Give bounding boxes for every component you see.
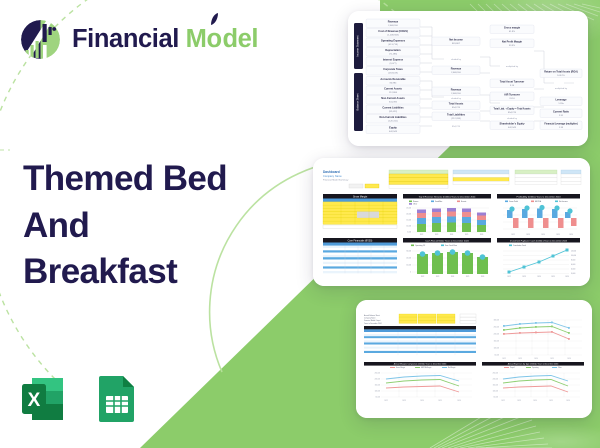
svg-text:Total Liab. + Equity = Total A: Total Liab. + Equity = Total Assets bbox=[494, 108, 532, 111]
svg-text:Gross margin: Gross margin bbox=[504, 27, 521, 30]
svg-text:150,000: 150,000 bbox=[493, 385, 499, 387]
financial-model-circle-chart-logo-icon bbox=[18, 17, 63, 62]
brand-name-part2-pre: M bbox=[186, 25, 207, 53]
svg-text:Income Statement: Income Statement bbox=[356, 35, 360, 56]
svg-text:10,000: 10,000 bbox=[406, 265, 411, 267]
svg-text:Interest Expense: Interest Expense bbox=[383, 59, 404, 62]
svg-text:Profitability (€'000) | Years: Profitability (€'000) | Years to Decembe… bbox=[517, 195, 562, 198]
svg-text:150,000: 150,000 bbox=[375, 385, 381, 387]
svg-text:40,000: 40,000 bbox=[571, 269, 575, 271]
svg-text:2022: 2022 bbox=[507, 276, 511, 278]
brand-wordmark: Financial Mo del bbox=[72, 27, 258, 53]
svg-text:2023: 2023 bbox=[436, 276, 440, 278]
svg-text:divided by: divided by bbox=[507, 118, 518, 120]
svg-text:100,000: 100,000 bbox=[375, 391, 381, 393]
svg-text:20,000: 20,000 bbox=[406, 214, 411, 216]
svg-text:50,000: 50,000 bbox=[493, 397, 498, 399]
svg-text:2026: 2026 bbox=[565, 276, 569, 278]
svg-text:Food/Bev: Food/Bev bbox=[435, 201, 442, 203]
svg-text:Gross Profit: Gross Profit bbox=[509, 200, 518, 203]
svg-text:100,000: 100,000 bbox=[494, 348, 500, 350]
svg-text:Current Liabilities: Current Liabilities bbox=[382, 107, 404, 110]
screenshot-card-financial-reports[interactable]: Annual Balance Sheet Company Name Financ… bbox=[356, 300, 592, 418]
svg-text:2024: 2024 bbox=[534, 358, 538, 360]
svg-text:X: X bbox=[28, 390, 41, 411]
svg-text:300,000: 300,000 bbox=[494, 320, 500, 322]
svg-text:Accounts Receivable: Accounts Receivable bbox=[380, 78, 406, 81]
svg-text:(263,619): (263,619) bbox=[388, 73, 398, 75]
svg-text:Current Ratio: Current Ratio bbox=[553, 111, 569, 114]
svg-text:Net Income: Net Income bbox=[449, 39, 463, 42]
brand-name-part1: Financial bbox=[72, 25, 179, 53]
svg-text:Corporate Taxes: Corporate Taxes bbox=[383, 68, 403, 71]
svg-text:(71,286): (71,286) bbox=[389, 54, 397, 56]
svg-text:2,648,510: 2,648,510 bbox=[388, 25, 399, 27]
svg-text:2024: 2024 bbox=[537, 276, 541, 278]
svg-text:A/R Turnover: A/R Turnover bbox=[504, 94, 520, 97]
svg-text:100,000: 100,000 bbox=[571, 255, 576, 257]
svg-text:100,000: 100,000 bbox=[493, 391, 499, 393]
svg-text:2025: 2025 bbox=[465, 234, 469, 236]
svg-text:2026: 2026 bbox=[567, 358, 571, 360]
svg-text:2025: 2025 bbox=[438, 400, 442, 402]
svg-text:250,000: 250,000 bbox=[493, 373, 499, 375]
brand-stylized-o: o bbox=[206, 27, 222, 53]
svg-text:15,000: 15,000 bbox=[406, 220, 411, 222]
screenshot-card-dashboard[interactable]: Dashboard Company Name Financial Model S… bbox=[313, 158, 590, 286]
dashboard-screenshot: Dashboard Company Name Financial Model S… bbox=[313, 158, 590, 286]
svg-text:Net Income: Net Income bbox=[559, 200, 568, 203]
svg-text:103.2%: 103.2% bbox=[557, 75, 564, 77]
svg-text:Cost of Revenue (COGS): Cost of Revenue (COGS) bbox=[378, 30, 408, 33]
svg-text:Other: Other bbox=[413, 203, 418, 206]
svg-text:Financial Leverage (multiplier: Financial Leverage (multiplier) bbox=[544, 123, 577, 126]
svg-text:Current Assets: Current Assets bbox=[384, 88, 402, 91]
brand-name-part2-post: del bbox=[222, 25, 258, 53]
svg-text:Company Name: Company Name bbox=[364, 318, 376, 320]
svg-text:150,000: 150,000 bbox=[494, 341, 500, 343]
svg-text:2023: 2023 bbox=[518, 358, 522, 360]
svg-text:Return on Total Assets (ROA): Return on Total Assets (ROA) bbox=[544, 71, 578, 74]
svg-text:Top 5 Revenue Streams (€'000): Top 5 Revenue Streams (€'000) | Years to… bbox=[419, 195, 476, 198]
svg-text:881,867: 881,867 bbox=[452, 43, 461, 45]
svg-text:854,276: 854,276 bbox=[452, 126, 461, 128]
svg-text:Equity: Equity bbox=[389, 127, 397, 130]
svg-text:(1,008,943): (1,008,943) bbox=[387, 35, 398, 37]
dupont-analysis-diagram: Income Statement Balance Sheet Revenue 2… bbox=[348, 11, 588, 146]
svg-text:2025: 2025 bbox=[466, 276, 470, 278]
svg-text:2023: 2023 bbox=[517, 400, 521, 402]
brand-name-part2-o: o bbox=[206, 25, 221, 53]
svg-text:2022: 2022 bbox=[420, 234, 424, 236]
leaf-icon bbox=[210, 13, 219, 25]
svg-text:2023: 2023 bbox=[526, 234, 530, 236]
svg-text:60,000: 60,000 bbox=[571, 264, 575, 266]
svg-text:Non-Current Assets: Non-Current Assets bbox=[381, 97, 405, 100]
svg-text:Total Assets: Total Assets bbox=[449, 103, 464, 106]
svg-text:(9,077): (9,077) bbox=[390, 63, 397, 65]
svg-text:2,648,510: 2,648,510 bbox=[451, 72, 462, 74]
page-title-line-3: Breakfast bbox=[23, 249, 288, 296]
svg-text:2023: 2023 bbox=[522, 276, 526, 278]
svg-text:Revenue: Revenue bbox=[388, 21, 399, 24]
google-sheets-icon[interactable] bbox=[90, 372, 144, 426]
financial-reports-screenshot: Annual Balance Sheet Company Name Financ… bbox=[356, 300, 592, 418]
svg-text:200,000: 200,000 bbox=[375, 379, 381, 381]
svg-text:Operating Expenses: Operating Expenses bbox=[381, 40, 406, 43]
svg-text:5,000: 5,000 bbox=[407, 232, 411, 234]
svg-text:2025: 2025 bbox=[556, 234, 560, 236]
svg-text:2026: 2026 bbox=[569, 234, 573, 236]
svg-text:2023: 2023 bbox=[435, 234, 439, 236]
svg-text:31.16: 31.16 bbox=[509, 98, 515, 100]
svg-text:Company Name: Company Name bbox=[323, 174, 342, 178]
svg-text:2024: 2024 bbox=[533, 400, 537, 402]
svg-text:50,000: 50,000 bbox=[494, 355, 499, 357]
svg-text:(212,333): (212,333) bbox=[451, 118, 461, 120]
file-format-icons: X bbox=[18, 372, 144, 426]
svg-text:1.33x: 1.33x bbox=[558, 103, 564, 105]
svg-text:2026: 2026 bbox=[566, 400, 570, 402]
svg-text:250,000: 250,000 bbox=[494, 327, 500, 329]
svg-text:2026: 2026 bbox=[480, 234, 484, 236]
svg-text:Annual Margins Comparison (€'0: Annual Margins Comparison (€'000) | Year… bbox=[394, 363, 447, 366]
svg-text:854,276: 854,276 bbox=[452, 107, 461, 109]
svg-text:2022: 2022 bbox=[502, 358, 506, 360]
svg-text:Cash Flow (€'000) | Years to D: Cash Flow (€'000) | Years to December 20… bbox=[425, 239, 469, 242]
svg-text:2022: 2022 bbox=[511, 234, 515, 236]
svg-text:30,000: 30,000 bbox=[406, 251, 411, 253]
svg-text:Net Profit Margin: Net Profit Margin bbox=[502, 41, 523, 44]
svg-text:multiplied by: multiplied by bbox=[555, 87, 568, 90]
svg-text:Gross Margin: Gross Margin bbox=[353, 195, 368, 198]
svg-text:642,943: 642,943 bbox=[508, 127, 517, 129]
svg-text:250,000: 250,000 bbox=[375, 373, 381, 375]
svg-text:Total Asset Turnover: Total Asset Turnover bbox=[500, 81, 525, 84]
svg-text:EBITDA: EBITDA bbox=[535, 200, 542, 203]
svg-text:61.9%: 61.9% bbox=[509, 31, 515, 33]
svg-text:Financial Model Summary: Financial Model Summary bbox=[323, 179, 349, 182]
svg-text:120,000: 120,000 bbox=[571, 251, 576, 253]
svg-text:Balance Sheet: Balance Sheet bbox=[356, 93, 360, 110]
svg-text:2025: 2025 bbox=[551, 276, 555, 278]
svg-text:2,648,510: 2,648,510 bbox=[451, 93, 462, 95]
svg-text:(92,022): (92,022) bbox=[389, 111, 397, 113]
page-title-line-1: Themed Bed bbox=[23, 156, 288, 203]
svg-text:642,943: 642,943 bbox=[389, 131, 398, 133]
svg-text:Revenue: Revenue bbox=[451, 68, 462, 71]
svg-text:Cumulative Cash: Cumulative Cash bbox=[513, 244, 526, 247]
screenshot-card-dupont-analysis[interactable]: Income Statement Balance Sheet Revenue 2… bbox=[348, 11, 588, 146]
svg-text:Revenue: Revenue bbox=[451, 89, 462, 92]
svg-text:20,000: 20,000 bbox=[406, 258, 411, 260]
svg-text:(120,311): (120,311) bbox=[388, 121, 397, 123]
svg-text:Annual Expenses by Type (€'000: Annual Expenses by Type (€'000) | Years … bbox=[508, 363, 559, 366]
svg-text:multiplied by: multiplied by bbox=[506, 65, 519, 68]
svg-text:Core Financials (€'000): Core Financials (€'000) bbox=[348, 239, 373, 242]
svg-text:10,000: 10,000 bbox=[406, 226, 411, 228]
svg-text:25,000: 25,000 bbox=[406, 208, 411, 210]
brand-logo[interactable]: Financial Mo del bbox=[18, 17, 258, 62]
svg-text:33.3%: 33.3% bbox=[509, 45, 515, 47]
svg-text:divided by: divided by bbox=[451, 98, 462, 100]
excel-icon[interactable]: X bbox=[18, 372, 72, 426]
page-title: Themed Bed And Breakfast bbox=[23, 156, 288, 296]
svg-text:2024: 2024 bbox=[420, 400, 424, 402]
svg-text:2024: 2024 bbox=[541, 234, 545, 236]
svg-text:200,000: 200,000 bbox=[494, 334, 500, 336]
svg-text:Events: Events bbox=[461, 200, 466, 203]
svg-text:Free Cash Flow: Free Cash Flow bbox=[445, 244, 458, 247]
svg-text:2022: 2022 bbox=[384, 400, 388, 402]
svg-text:Shareholder's Equity: Shareholder's Equity bbox=[500, 123, 526, 126]
svg-text:2024: 2024 bbox=[451, 276, 455, 278]
svg-text:Total Liabilities: Total Liabilities bbox=[447, 114, 466, 117]
svg-text:Investment Payback / Cash (€'0: Investment Payback / Cash (€'000) | Year… bbox=[510, 239, 568, 242]
svg-text:80,000: 80,000 bbox=[571, 260, 575, 262]
svg-text:Dashboard: Dashboard bbox=[323, 170, 340, 174]
svg-text:50,000: 50,000 bbox=[375, 397, 380, 399]
svg-text:854,276: 854,276 bbox=[508, 112, 517, 114]
svg-text:2026: 2026 bbox=[457, 400, 461, 402]
svg-text:Non-Current Liabilities: Non-Current Liabilities bbox=[380, 116, 408, 119]
svg-text:divided by: divided by bbox=[451, 59, 462, 61]
svg-text:2026: 2026 bbox=[481, 276, 485, 278]
svg-text:212,884: 212,884 bbox=[389, 92, 398, 94]
svg-text:Depreciation: Depreciation bbox=[385, 49, 401, 52]
svg-text:Operating CF: Operating CF bbox=[415, 244, 425, 247]
svg-text:2023: 2023 bbox=[402, 400, 406, 402]
svg-text:84,984: 84,984 bbox=[390, 83, 397, 85]
svg-text:20,000: 20,000 bbox=[571, 273, 575, 275]
svg-text:2022: 2022 bbox=[421, 276, 425, 278]
svg-text:(413,718): (413,718) bbox=[388, 44, 398, 46]
svg-text:2025: 2025 bbox=[549, 400, 553, 402]
svg-text:2024: 2024 bbox=[450, 234, 454, 236]
svg-text:200,000: 200,000 bbox=[493, 379, 499, 381]
poster-canvas: Financial Mo del Themed Bed And Breakfas… bbox=[0, 0, 600, 448]
page-title-line-2: And bbox=[23, 203, 288, 250]
svg-text:2022: 2022 bbox=[501, 400, 505, 402]
svg-text:Leverage: Leverage bbox=[556, 99, 568, 102]
svg-text:2025: 2025 bbox=[550, 358, 554, 360]
svg-text:641,392: 641,392 bbox=[389, 102, 398, 104]
